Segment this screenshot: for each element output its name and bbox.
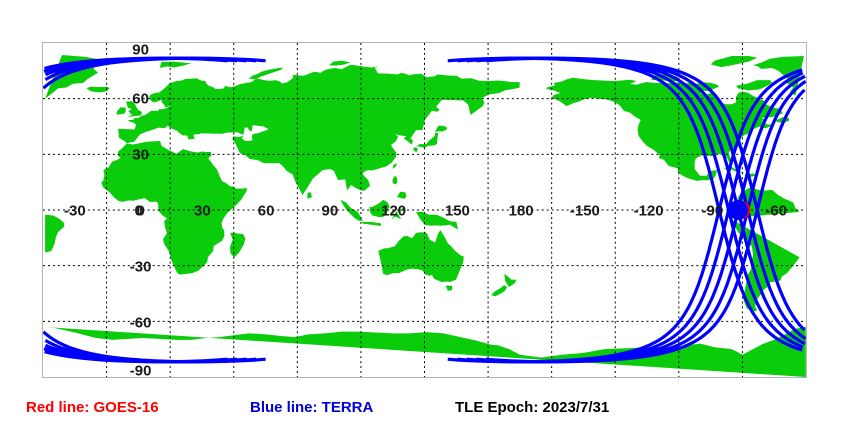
satellite-ground-track-map: 9060300-30-60-90 -300306090120150180-150… <box>0 0 850 425</box>
lon-tick-30: 30 <box>194 204 211 219</box>
lon-tick-neg60: -60 <box>765 204 787 219</box>
lon-tick-neg150: -150 <box>570 204 600 219</box>
lat-tick-90: 90 <box>132 43 149 58</box>
lon-tick-120: 120 <box>381 204 406 219</box>
legend-goes16: Red line: GOES-16 <box>26 400 159 415</box>
legend-terra: Blue line: TERRA <box>250 400 373 415</box>
lat-tick-60: 60 <box>132 92 149 107</box>
lon-tick-180: 180 <box>509 204 534 219</box>
lon-tick-neg90: -90 <box>702 204 724 219</box>
lon-tick-neg120: -120 <box>634 204 664 219</box>
lon-tick-neg30: -30 <box>64 204 86 219</box>
satellite-track-layer <box>43 43 806 377</box>
world-map-plot: 9060300-30-60-90 -300306090120150180-150… <box>42 42 807 378</box>
lat-tick-neg30: -30 <box>130 260 152 275</box>
lon-tick-150: 150 <box>445 204 470 219</box>
legend-bar: Red line: GOES-16 Blue line: TERRA TLE E… <box>0 395 850 425</box>
lon-tick-0: 0 <box>134 204 142 219</box>
legend-tle-epoch: TLE Epoch: 2023/7/31 <box>455 400 609 415</box>
lat-tick-30: 30 <box>132 148 149 163</box>
lon-tick-90: 90 <box>322 204 339 219</box>
terra-marker <box>728 200 748 220</box>
lon-tick-60: 60 <box>258 204 275 219</box>
lat-tick-neg60: -60 <box>130 316 152 331</box>
lat-tick-neg90: -90 <box>130 364 152 379</box>
